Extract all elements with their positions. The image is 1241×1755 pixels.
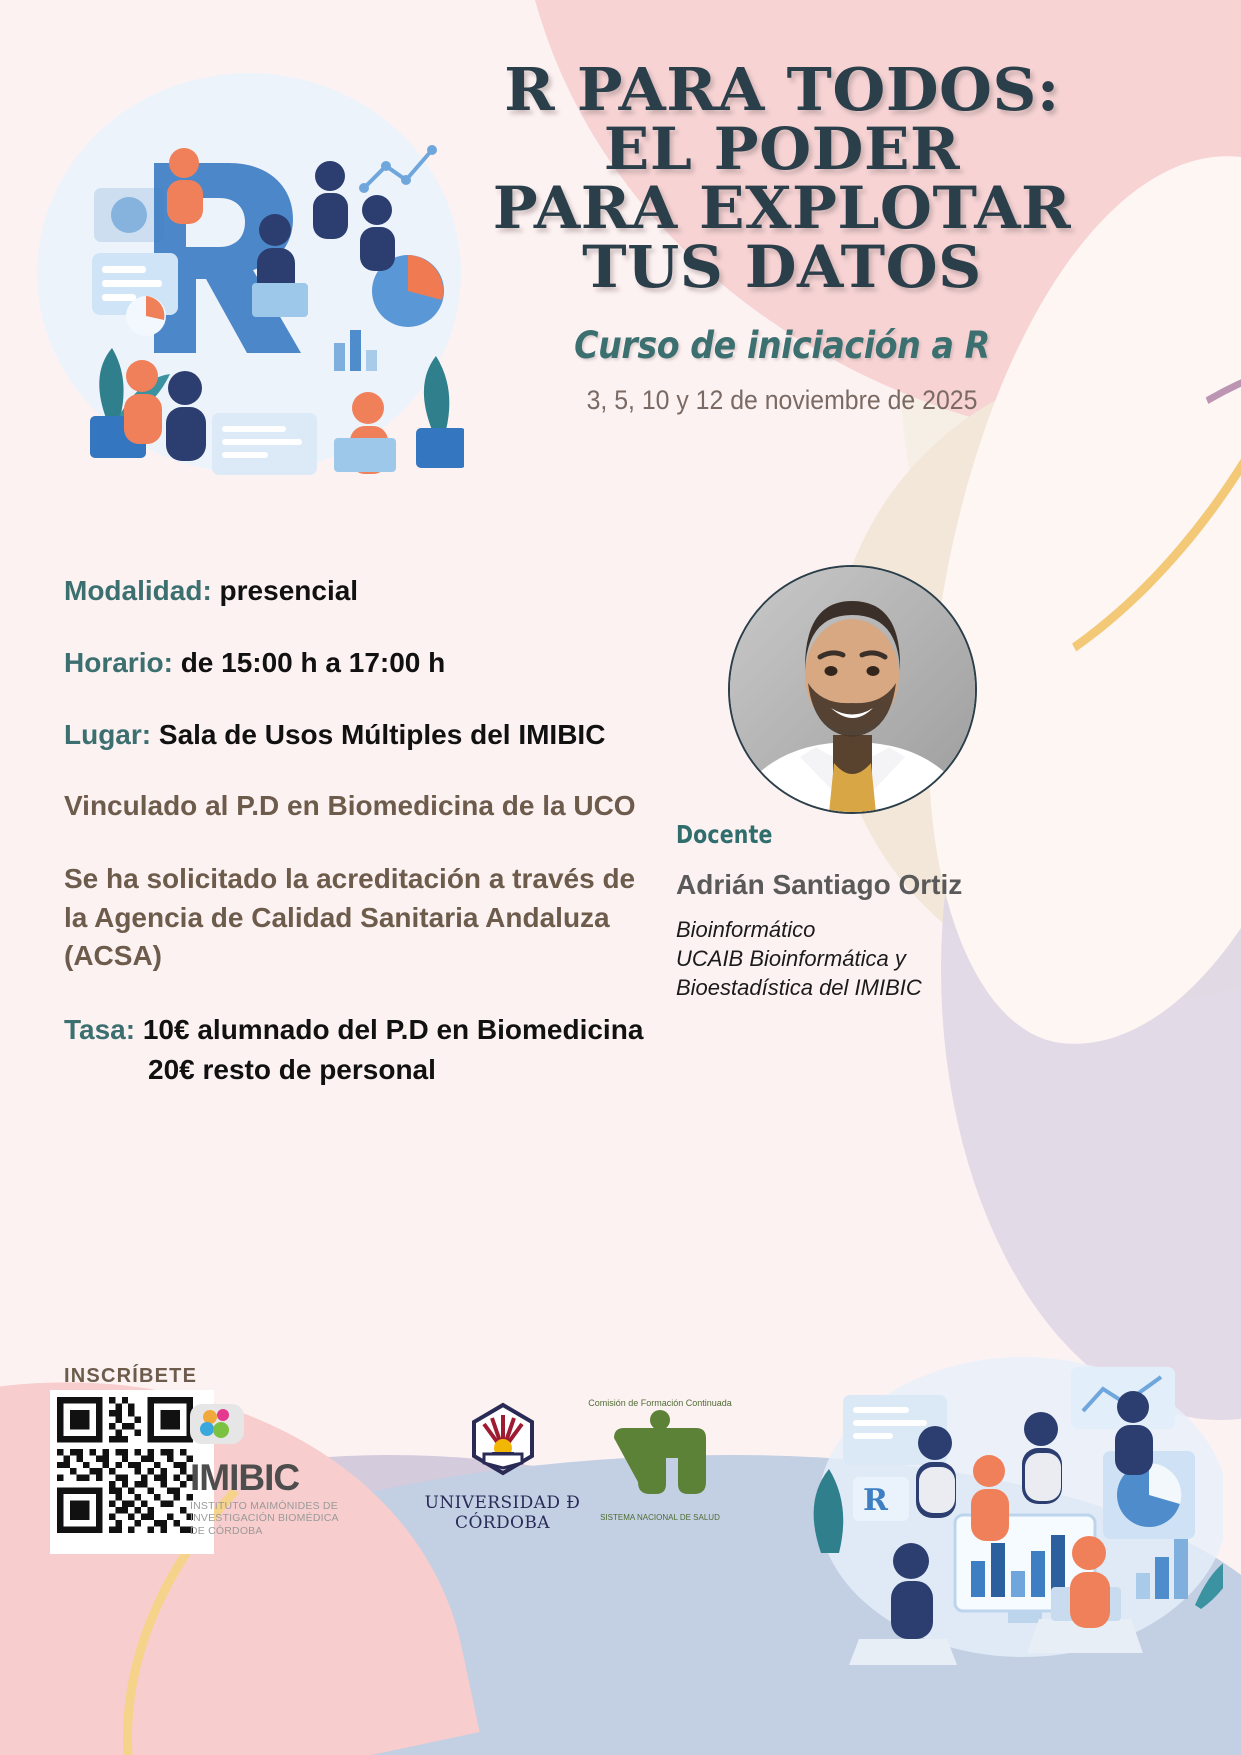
- teacher-unit-line-1: UCAIB Bioinformática y: [676, 944, 1076, 973]
- uco-name: UNIVERSIDAD Ð CÓRDOBA: [410, 1493, 595, 1533]
- poster-subtitle: Curso de iniciación a R: [485, 324, 1079, 367]
- fee-line-2: 20€ resto de personal: [64, 1050, 644, 1090]
- cfc-logo: Comisión de Formación Continuada SISTEMA…: [580, 1398, 740, 1522]
- poster-title-line-4: TUS DATOS: [442, 238, 1122, 297]
- course-dates: 3, 5, 10 y 12 de noviembre de 2025: [478, 385, 1085, 416]
- imibic-subtitle: INSTITUTO MAIMÓNIDES DE INVESTIGACIÓN BI…: [190, 1500, 375, 1537]
- fee-block: Tasa: 10€ alumnado del P.D en Biomedicin…: [64, 1010, 644, 1090]
- fee-label: Tasa:: [64, 1014, 135, 1045]
- detail-lugar-value: Sala de Usos Múltiples del IMIBIC: [159, 719, 606, 750]
- poster-title-line-3: PARA EXPLOTAR: [442, 179, 1122, 238]
- detail-modalidad-value: presencial: [220, 575, 359, 606]
- teacher-block: Docente Adrián Santiago Ortiz Bioinformá…: [676, 820, 1076, 1002]
- detail-horario: Horario: de 15:00 h a 17:00 h: [64, 644, 644, 682]
- fee-line-1: 10€ alumnado del P.D en Biomedicina: [143, 1014, 644, 1045]
- poster-title-line-2: EL PODER: [442, 120, 1122, 179]
- hero-illustration: [34, 58, 464, 488]
- teacher-unit-line-2: Bioestadística del IMIBIC: [676, 973, 1076, 1002]
- imibic-sub-line-3: DE CÓRDOBA: [190, 1525, 263, 1537]
- imibic-logo: IMIBIC INSTITUTO MAIMÓNIDES DE INVESTIGA…: [190, 1404, 375, 1537]
- svg-text:R: R: [863, 1483, 889, 1518]
- detail-modalidad-label: Modalidad:: [64, 575, 212, 606]
- teacher-avatar: [728, 565, 977, 814]
- logo-row: IMIBIC INSTITUTO MAIMÓNIDES DE INVESTIGA…: [190, 1398, 720, 1548]
- cfc-top-label: Comisión de Formación Continuada: [580, 1398, 740, 1408]
- uco-logo: UNIVERSIDAD Ð CÓRDOBA: [410, 1402, 595, 1533]
- note-acreditacion: Se ha solicitado la acreditación a travé…: [64, 860, 644, 976]
- teacher-section-title: Docente: [676, 820, 1004, 849]
- detail-horario-label: Horario:: [64, 647, 173, 678]
- imibic-sub-line-2: INVESTIGACIÓN BIOMÉDICA: [190, 1512, 339, 1524]
- poster-root: R PARA TODOS: EL PODER PARA EXPLOTAR TUS…: [0, 0, 1241, 1755]
- detail-lugar-label: Lugar:: [64, 719, 151, 750]
- note-vinculado: Vinculado al P.D en Biomedicina de la UC…: [64, 787, 644, 826]
- cfc-bottom-label: SISTEMA NACIONAL DE SALUD: [580, 1513, 740, 1522]
- title-block: R PARA TODOS: EL PODER PARA EXPLOTAR TUS…: [452, 60, 1112, 416]
- teacher-name: Adrián Santiago Ortiz: [676, 869, 1076, 901]
- teacher-role: Bioinformático: [676, 915, 1076, 944]
- imibic-sub-line-1: INSTITUTO MAIMÓNIDES DE: [190, 1500, 338, 1512]
- imibic-name: IMIBIC: [190, 1459, 375, 1496]
- cfc-mark-icon: [600, 1408, 720, 1508]
- imibic-mark-icon: [190, 1404, 244, 1444]
- poster-title-line-1: R PARA TODOS:: [442, 60, 1122, 120]
- detail-lugar: Lugar: Sala de Usos Múltiples del IMIBIC: [64, 716, 644, 754]
- course-details: Modalidad: presencial Horario: de 15:00 …: [64, 572, 644, 1089]
- detail-horario-value: de 15:00 h a 17:00 h: [181, 647, 446, 678]
- uco-crest-icon: [468, 1402, 538, 1482]
- register-label: INSCRÍBETE: [64, 1365, 197, 1388]
- detail-modalidad: Modalidad: presencial: [64, 572, 644, 610]
- footer-illustration: R: [803, 1347, 1223, 1677]
